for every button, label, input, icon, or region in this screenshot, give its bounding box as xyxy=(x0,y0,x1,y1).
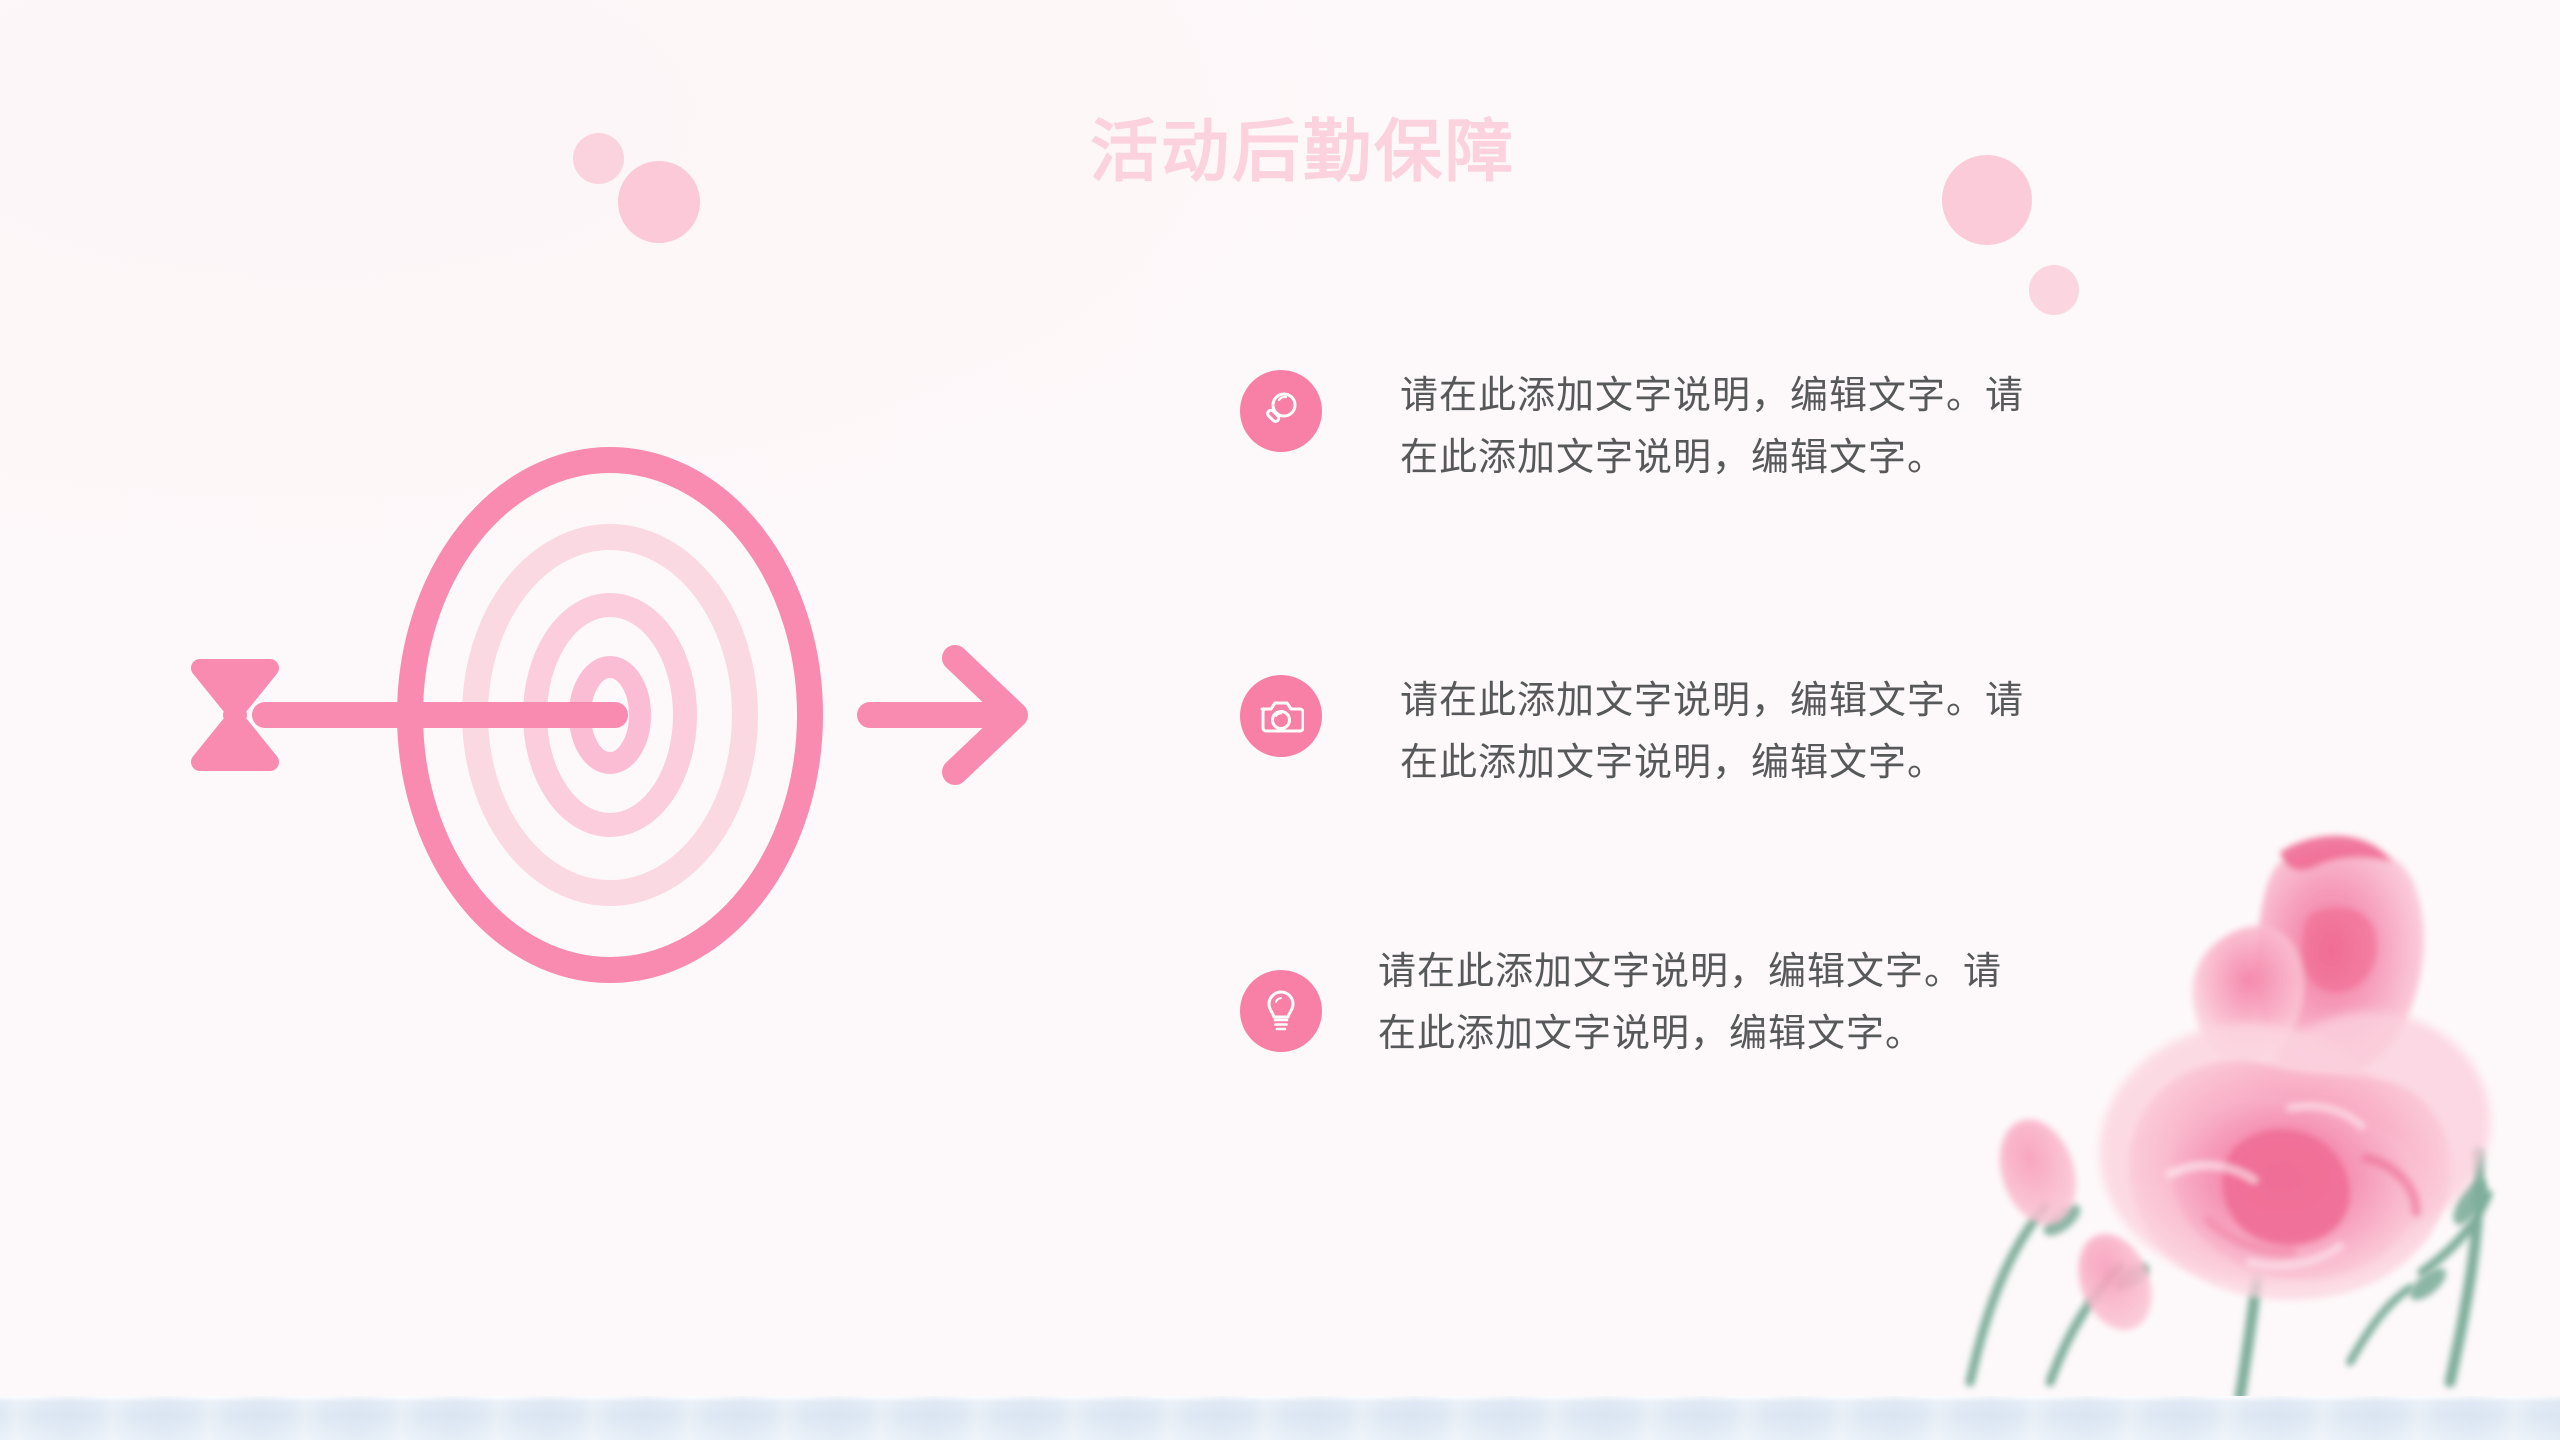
list-item[interactable]: 请在此添加文字说明，编辑文字。请 在此添加文字说明，编辑文字。 xyxy=(1240,370,2024,489)
target-arrow-illustration xyxy=(170,420,1070,1010)
dot-top-right-large xyxy=(1942,155,2032,245)
list-item[interactable]: 请在此添加文字说明，编辑文字。请 在此添加文字说明，编辑文字。 xyxy=(1240,675,2024,794)
dot-top-right-small xyxy=(2029,265,2079,315)
dot-top-left-small xyxy=(573,133,624,184)
page-title: 活动后勤保障 xyxy=(1090,118,1516,186)
search-icon[interactable] xyxy=(1240,370,1322,452)
bottom-strip-texture xyxy=(0,1396,2560,1440)
list-item-text: 请在此添加文字说明，编辑文字。请 在此添加文字说明，编辑文字。 xyxy=(1378,942,2002,1065)
list-item-text: 请在此添加文字说明，编辑文字。请 在此添加文字说明，编辑文字。 xyxy=(1400,366,2024,489)
bottom-strip xyxy=(0,1396,2560,1440)
dot-top-left-large xyxy=(618,161,700,243)
list-item[interactable]: 请在此添加文字说明，编辑文字。请 在此添加文字说明，编辑文字。 xyxy=(1240,970,2002,1065)
slide-canvas: 活动后勤保障 xyxy=(0,0,2560,1440)
lightbulb-icon[interactable] xyxy=(1240,970,1322,1052)
camera-icon[interactable] xyxy=(1240,675,1322,757)
list-item-text: 请在此添加文字说明，编辑文字。请 在此添加文字说明，编辑文字。 xyxy=(1400,671,2024,794)
